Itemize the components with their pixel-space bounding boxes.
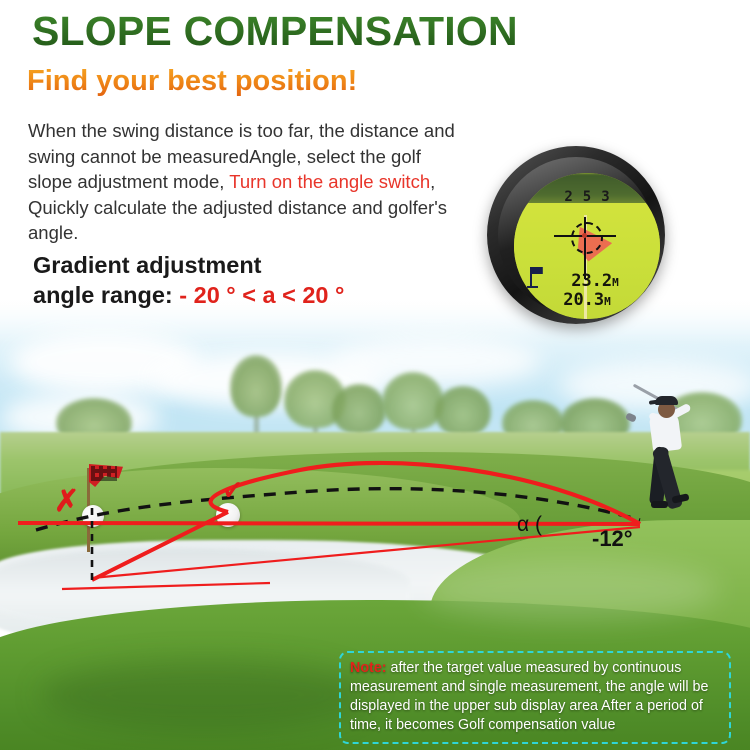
angle-value-label: -12° [592, 528, 633, 550]
golf-ball-good [216, 503, 240, 527]
note-body: after the target value measured by conti… [350, 660, 708, 733]
note-label: Note: [350, 660, 387, 676]
angle-range-label: angle range: [33, 282, 179, 308]
page-subtitle: Find your best position! [27, 65, 357, 98]
angle-range-row: angle range: - 20 ° < a < 20 ° [33, 282, 463, 309]
grass-shading [420, 560, 720, 620]
grass-shading [40, 660, 370, 730]
description-highlight: Turn on the angle switch [229, 171, 430, 192]
note-text: Note: after the target value measured by… [350, 659, 720, 735]
rangefinder-viewfinder: 253 23.2M 20.3M [487, 146, 665, 324]
secondary-distance-value: 20.3 [563, 290, 604, 310]
golf-course-photo [0, 0, 750, 750]
description-paragraph: When the swing distance is too far, the … [28, 118, 460, 246]
golf-ball-bad [82, 505, 104, 527]
golfer-shoe-left [651, 501, 668, 508]
primary-distance-unit: M [612, 276, 619, 289]
infographic-page: ✗ ✓ α ( -12° SLOPE COMPENSATION Find you… [0, 0, 750, 750]
crosshair-center-dot [582, 233, 587, 238]
golfer-figure [634, 385, 706, 533]
rangefinder-secondary-distance: 20.3M [514, 290, 660, 310]
flag-pattern [91, 466, 117, 481]
secondary-distance-unit: M [604, 295, 611, 308]
crosshair-icon [571, 222, 603, 254]
good-position-mark: ✓ [222, 477, 244, 503]
rangefinder-bezel: 253 23.2M 20.3M [498, 157, 654, 313]
rangefinder-top-digits: 253 [514, 189, 660, 205]
primary-distance-value: 23.2 [571, 271, 612, 291]
note-box: Note: after the target value measured by… [339, 651, 731, 744]
angle-range-value: - 20 ° < a < 20 ° [179, 282, 344, 308]
bad-position-mark: ✗ [54, 487, 79, 517]
gradient-adjustment-label: Gradient adjustment [33, 252, 463, 279]
angle-symbol-label: α ( [517, 514, 542, 535]
rangefinder-lens: 253 23.2M 20.3M [514, 173, 660, 319]
page-title: SLOPE COMPENSATION [32, 8, 518, 55]
rangefinder-primary-distance: 23.2M [514, 271, 660, 291]
